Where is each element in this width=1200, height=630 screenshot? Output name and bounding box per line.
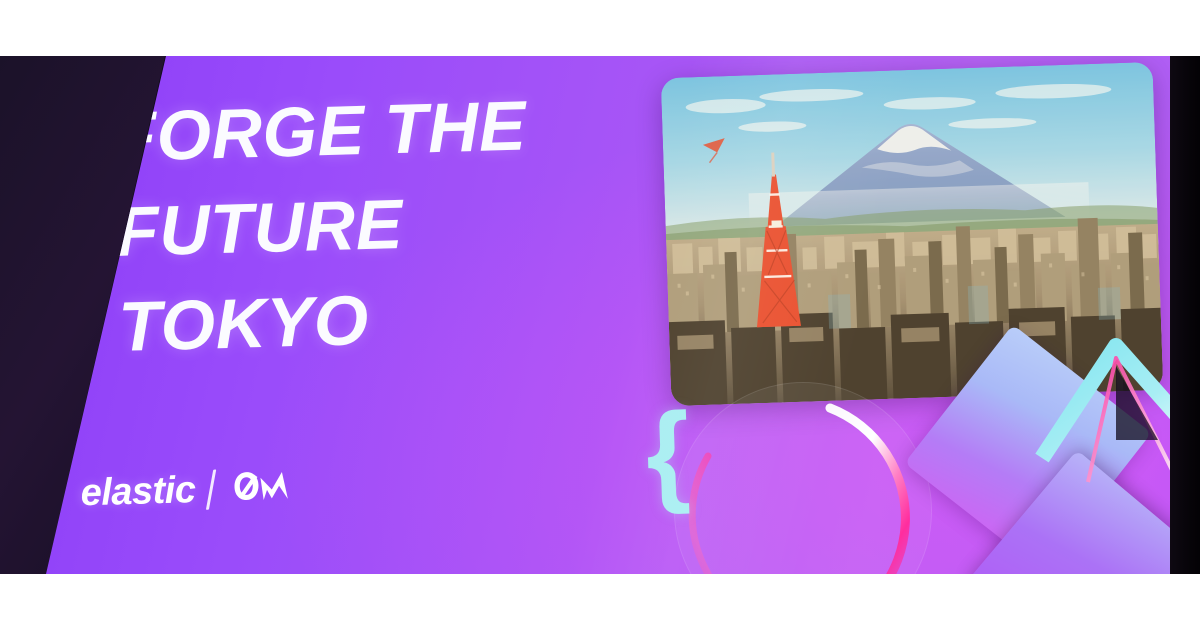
screenshot-canvas: FORGE THE FUTURE TOKYO xyxy=(0,0,1200,630)
right-bezel-shadow xyxy=(1170,56,1200,574)
letterbox-band-top xyxy=(0,0,1200,56)
crescent-arc-decoration xyxy=(662,374,944,574)
page-title: FORGE THE FUTURE TOKYO xyxy=(112,78,533,374)
letterbox-band-bottom xyxy=(0,574,1200,630)
slide-background: FORGE THE FUTURE TOKYO xyxy=(0,56,1200,574)
headline-line-2: FUTURE xyxy=(115,173,530,279)
logo-divider xyxy=(206,470,216,510)
elastic-wordmark: elastic xyxy=(80,471,196,512)
curly-brace-glyph: { xyxy=(644,396,691,509)
headline-line-1: FORGE THE xyxy=(112,78,527,184)
headline-line-3: TOKYO xyxy=(117,268,532,374)
projected-screen: FORGE THE FUTURE TOKYO xyxy=(0,56,1200,574)
partner-leaf-icon xyxy=(226,464,299,512)
